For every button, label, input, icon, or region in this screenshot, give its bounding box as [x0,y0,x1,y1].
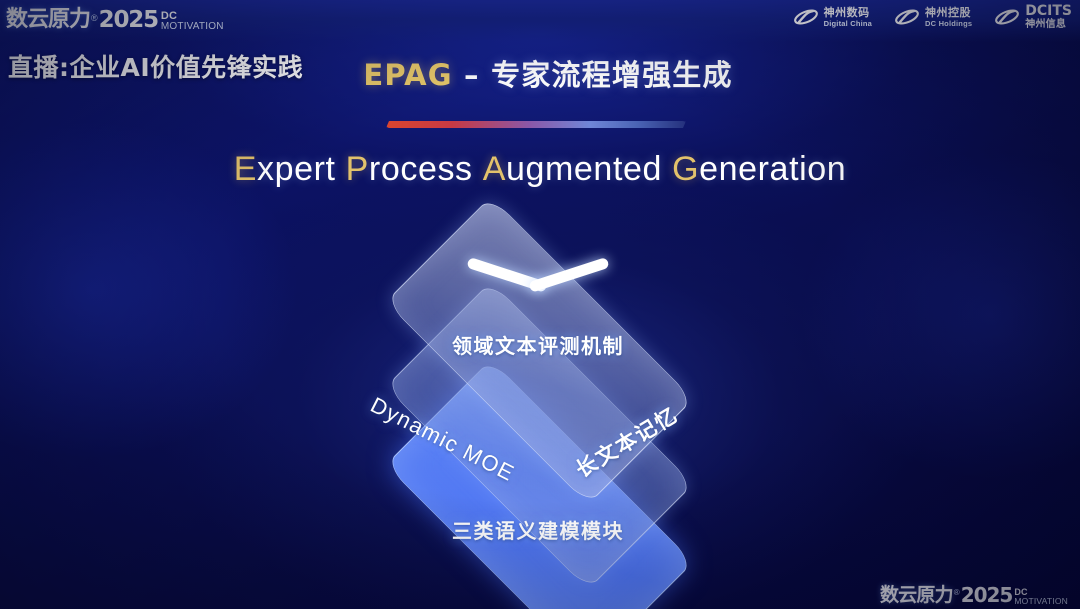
vignette-overlay [0,0,1080,609]
presentation-slide: 数云原力 ® 2025 DC MOTIVATION 直播:企业AI价值先锋实践 … [0,0,1080,609]
